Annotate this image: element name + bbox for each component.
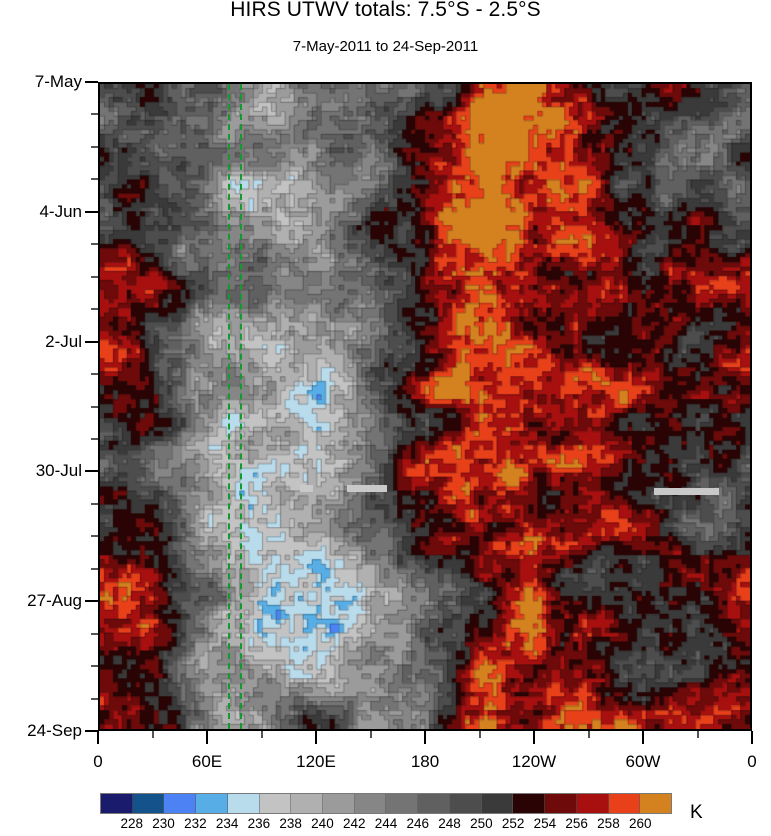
colorbar-swatch: [577, 794, 609, 813]
hovmoller-figure: HIRS UTWV totals: 7.5°S - 2.5°S 7-May-20…: [0, 0, 771, 834]
x-axis-major-tick: [424, 731, 426, 744]
x-axis-tick-label: 180: [385, 752, 465, 772]
x-axis-tick-label: 0: [712, 752, 771, 772]
y-axis-minor-tick: [91, 438, 98, 440]
colorbar-swatch: [640, 794, 671, 813]
y-axis-major-tick: [85, 211, 98, 213]
colorbar-swatch: [386, 794, 418, 813]
colorbar-unit-label: K: [690, 802, 703, 824]
x-axis-major-tick: [642, 731, 644, 744]
x-axis-minor-tick: [152, 731, 154, 738]
x-axis-tick-label: 120W: [494, 752, 574, 772]
y-axis-major-tick: [85, 600, 98, 602]
y-axis-minor-tick: [91, 665, 98, 667]
y-axis-minor-tick: [91, 178, 98, 180]
y-axis-major-tick: [85, 730, 98, 732]
x-axis-major-tick: [206, 731, 208, 744]
colorbar-tick-labels: 2282302322342362382402422442462482502522…: [0, 816, 771, 836]
x-axis-major-tick: [97, 731, 99, 744]
missing-data-bar: [300, 485, 313, 492]
reference-line-green-dashed: [240, 84, 242, 729]
colorbar-swatch: [133, 794, 165, 813]
y-axis-minor-tick: [91, 146, 98, 148]
contour-field-canvas: [100, 84, 750, 729]
colorbar-swatch: [101, 794, 133, 813]
y-axis-tick-label: 24-Sep: [27, 721, 82, 741]
x-axis-minor-tick: [370, 731, 372, 738]
y-axis-tick-label: 7-May: [35, 72, 82, 92]
x-axis-minor-tick: [697, 731, 699, 738]
y-axis-minor-tick: [91, 503, 98, 505]
y-axis-major-tick: [85, 341, 98, 343]
colorbar-swatch: [355, 794, 387, 813]
y-axis-tick-label: 2-Jul: [45, 332, 82, 352]
colorbar-swatch: [545, 794, 577, 813]
colorbar-swatch: [418, 794, 450, 813]
colorbar-swatch: [228, 794, 260, 813]
plot-area: [98, 82, 752, 731]
y-axis-minor-tick: [91, 113, 98, 115]
x-axis-minor-tick: [588, 731, 590, 738]
y-axis-minor-tick: [91, 698, 98, 700]
missing-data-bar: [654, 488, 719, 495]
colorbar-swatch: [291, 794, 323, 813]
y-axis-minor-tick: [91, 633, 98, 635]
x-axis-tick-label: 120E: [276, 752, 356, 772]
y-axis-minor-tick: [91, 276, 98, 278]
heatmap-field: [100, 84, 750, 729]
y-axis-minor-tick: [91, 243, 98, 245]
y-axis-major-tick: [85, 81, 98, 83]
y-axis-labels: 7-May4-Jun2-Jul30-Jul27-Aug24-Sep: [0, 0, 82, 834]
missing-data-bar: [347, 485, 387, 492]
x-axis-major-tick: [751, 731, 753, 744]
reference-line-green-dashed: [228, 84, 230, 729]
colorbar-swatch: [513, 794, 545, 813]
y-axis-minor-tick: [91, 406, 98, 408]
y-axis-minor-tick: [91, 568, 98, 570]
colorbar-tick-label: 260: [620, 816, 660, 831]
x-axis-tick-label: 60E: [167, 752, 247, 772]
chart-title: HIRS UTWV totals: 7.5°S - 2.5°S: [0, 0, 771, 22]
x-axis-tick-label: 60W: [603, 752, 683, 772]
y-axis-minor-tick: [91, 535, 98, 537]
colorbar-swatch: [196, 794, 228, 813]
y-axis-tick-label: 30-Jul: [36, 461, 82, 481]
colorbar-swatch: [260, 794, 292, 813]
y-axis-minor-tick: [91, 373, 98, 375]
y-axis-minor-tick: [91, 308, 98, 310]
x-axis-minor-tick: [479, 731, 481, 738]
colorbar-swatch: [482, 794, 514, 813]
x-axis-tick-label: 0: [58, 752, 138, 772]
x-axis-major-tick: [315, 731, 317, 744]
y-axis-tick-label: 27-Aug: [27, 591, 82, 611]
chart-subtitle: 7-May-2011 to 24-Sep-2011: [0, 38, 771, 55]
colorbar: [100, 793, 672, 814]
colorbar-swatch: [450, 794, 482, 813]
colorbar-swatch: [609, 794, 641, 813]
x-axis-major-tick: [533, 731, 535, 744]
y-axis-major-tick: [85, 470, 98, 472]
colorbar-swatch: [323, 794, 355, 813]
y-axis-tick-label: 4-Jun: [39, 202, 82, 222]
x-axis-minor-tick: [261, 731, 263, 738]
colorbar-swatch: [164, 794, 196, 813]
